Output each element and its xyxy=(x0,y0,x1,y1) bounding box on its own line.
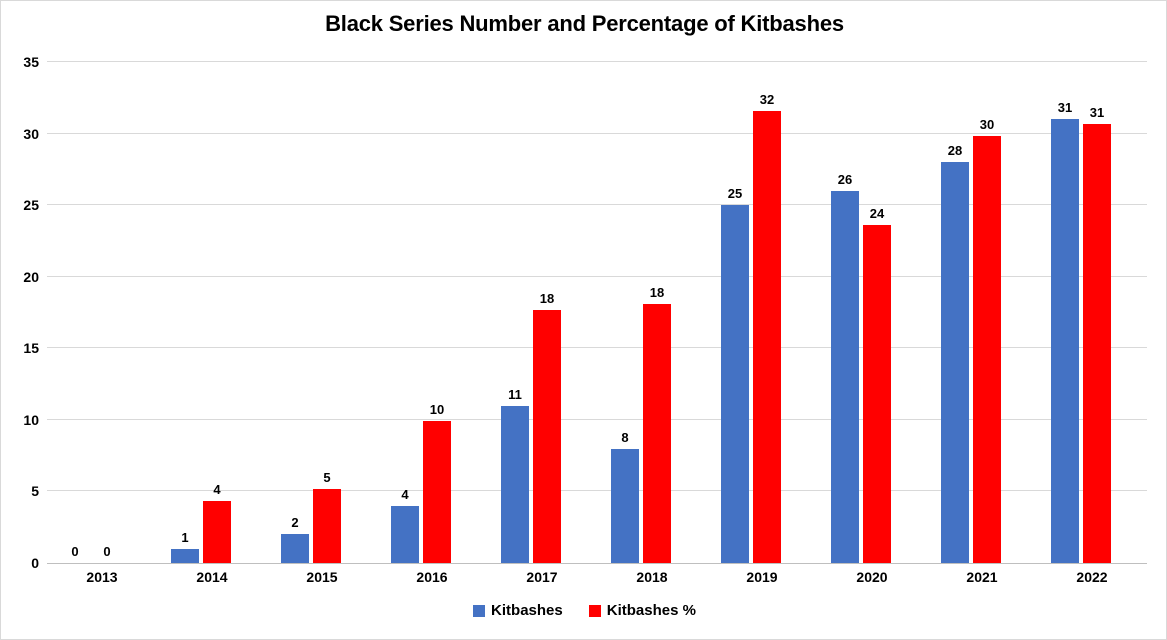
bar-group: 818 xyxy=(597,62,707,563)
y-axis-tick-label: 30 xyxy=(1,126,39,142)
bar-value-label: 28 xyxy=(935,143,975,158)
bar-kitbashes-percent[interactable] xyxy=(313,489,341,563)
legend-label: Kitbashes xyxy=(491,602,563,619)
bar-group: 00 xyxy=(47,62,157,563)
bar-kitbashes-percent[interactable] xyxy=(203,501,231,563)
bar-kitbashes[interactable] xyxy=(721,205,749,563)
y-axis-tick-label: 35 xyxy=(1,54,39,70)
bar-kitbashes[interactable] xyxy=(831,191,859,563)
bar-value-label: 4 xyxy=(197,482,237,497)
legend-swatch-icon xyxy=(589,605,601,617)
bar-value-label: 18 xyxy=(527,291,567,306)
x-axis-tick-label-2016: 2016 xyxy=(377,569,487,585)
legend-swatch-icon xyxy=(473,605,485,617)
y-axis-tick-label: 20 xyxy=(1,269,39,285)
chart-legend: KitbashesKitbashes % xyxy=(1,602,1167,619)
bar-kitbashes-percent[interactable] xyxy=(753,111,781,563)
bar-value-label: 10 xyxy=(417,402,457,417)
bar-group: 3131 xyxy=(1037,62,1147,563)
y-axis-tick-label: 10 xyxy=(1,412,39,428)
legend-item-kitbashes-percent[interactable]: Kitbashes % xyxy=(589,602,696,619)
bar-value-label: 18 xyxy=(637,285,677,300)
bar-value-label: 30 xyxy=(967,117,1007,132)
bar-kitbashes-percent[interactable] xyxy=(863,225,891,563)
chart-container: Black Series Number and Percentage of Ki… xyxy=(0,0,1167,640)
bar-kitbashes[interactable] xyxy=(501,406,529,563)
x-axis-baseline xyxy=(47,563,1147,564)
legend-label: Kitbashes % xyxy=(607,602,696,619)
bar-kitbashes-percent[interactable] xyxy=(533,310,561,563)
x-axis-tick-label-2019: 2019 xyxy=(707,569,817,585)
bar-value-label: 32 xyxy=(747,92,787,107)
bar-group: 2624 xyxy=(817,62,927,563)
x-axis-tick-label-2018: 2018 xyxy=(597,569,707,585)
x-axis-tick-label-2014: 2014 xyxy=(157,569,267,585)
y-axis-tick-label: 0 xyxy=(1,555,39,571)
bar-value-label: 31 xyxy=(1077,105,1117,120)
bar-kitbashes[interactable] xyxy=(941,162,969,563)
bar-kitbashes-percent[interactable] xyxy=(643,304,671,563)
y-axis-tick-label: 5 xyxy=(1,483,39,499)
bar-kitbashes-percent[interactable] xyxy=(973,136,1001,563)
bar-kitbashes-percent[interactable] xyxy=(1083,124,1111,563)
bar-kitbashes[interactable] xyxy=(281,534,309,563)
bar-kitbashes[interactable] xyxy=(391,506,419,563)
x-axis-tick-label-2021: 2021 xyxy=(927,569,1037,585)
bar-kitbashes[interactable] xyxy=(1051,119,1079,563)
x-axis-tick-label-2022: 2022 xyxy=(1037,569,1147,585)
bar-value-label: 25 xyxy=(715,186,755,201)
bar-value-label: 5 xyxy=(307,470,347,485)
bar-value-label: 24 xyxy=(857,206,897,221)
bar-kitbashes[interactable] xyxy=(171,549,199,563)
chart-title: Black Series Number and Percentage of Ki… xyxy=(1,11,1167,37)
y-axis-labels: 35302520151050 xyxy=(1,62,39,563)
bar-value-label: 1 xyxy=(165,530,205,545)
bar-group: 1118 xyxy=(487,62,597,563)
y-axis-tick-label: 25 xyxy=(1,197,39,213)
bar-group: 14 xyxy=(157,62,267,563)
x-axis-tick-label-2020: 2020 xyxy=(817,569,927,585)
legend-item-kitbashes[interactable]: Kitbashes xyxy=(473,602,563,619)
bar-group: 2532 xyxy=(707,62,817,563)
bar-value-label: 8 xyxy=(605,430,645,445)
x-axis-tick-label-2013: 2013 xyxy=(47,569,157,585)
plot-area: 00142541011188182532262428303131 xyxy=(47,62,1147,563)
bar-group: 25 xyxy=(267,62,377,563)
bar-value-label: 2 xyxy=(275,515,315,530)
x-axis-tick-label-2017: 2017 xyxy=(487,569,597,585)
y-axis-tick-label: 15 xyxy=(1,340,39,356)
bar-value-label: 0 xyxy=(87,544,127,559)
bar-kitbashes-percent[interactable] xyxy=(423,421,451,563)
x-axis-labels: 2013201420152016201720182019202020212022 xyxy=(47,569,1147,593)
bar-kitbashes[interactable] xyxy=(611,449,639,564)
bar-value-label: 11 xyxy=(495,387,535,402)
bar-value-label: 26 xyxy=(825,172,865,187)
bar-value-label: 4 xyxy=(385,487,425,502)
x-axis-tick-label-2015: 2015 xyxy=(267,569,377,585)
bar-group: 2830 xyxy=(927,62,1037,563)
bar-group: 410 xyxy=(377,62,487,563)
